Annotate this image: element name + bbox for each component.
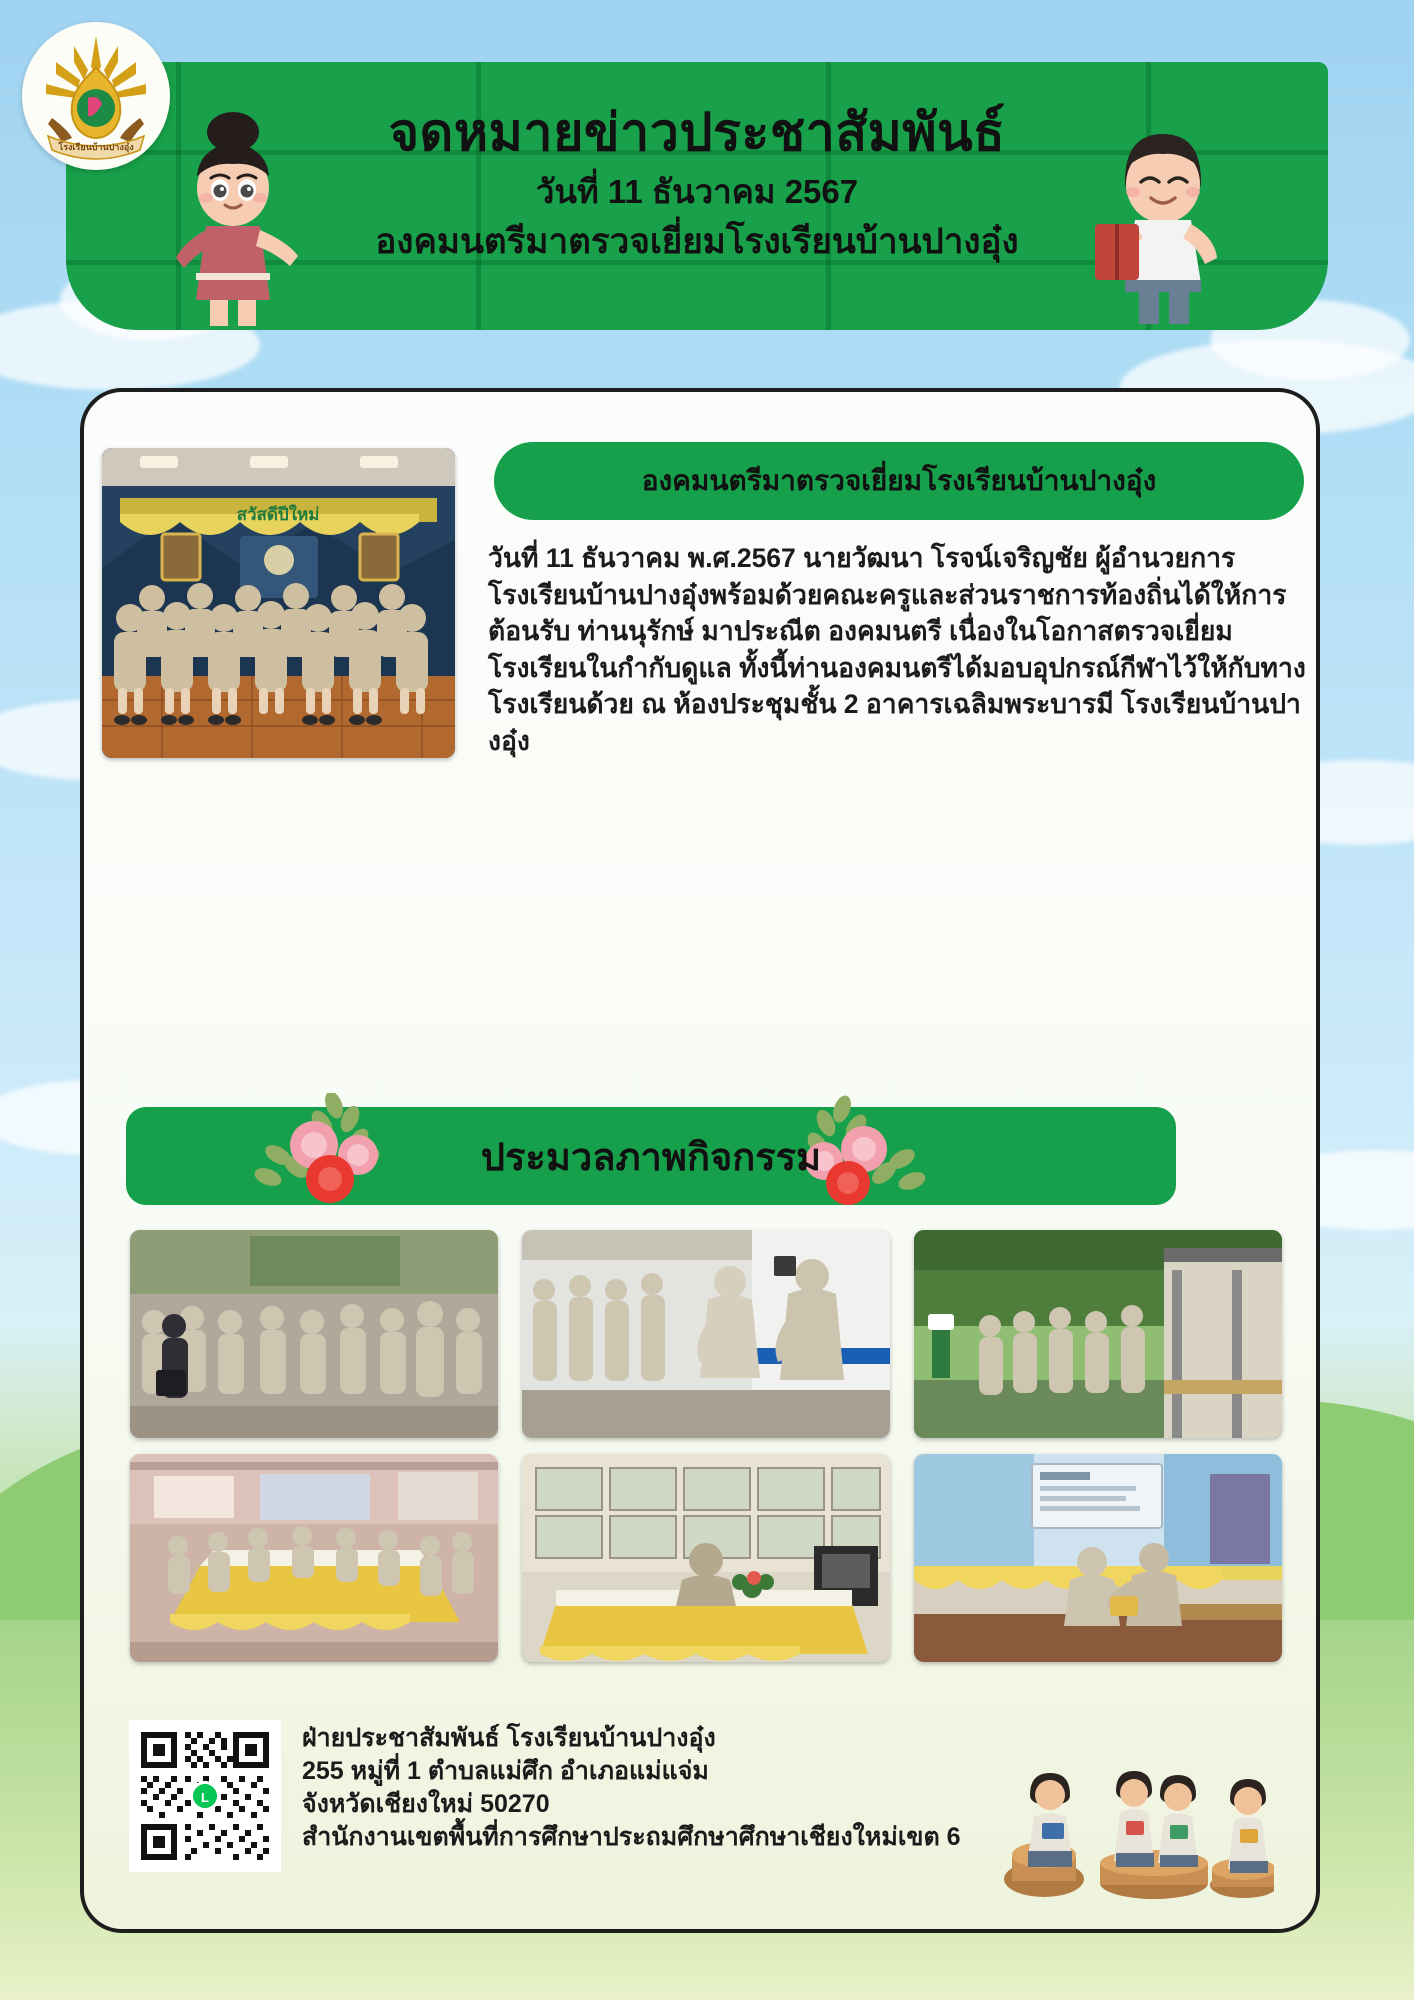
activity-photo: [522, 1454, 890, 1662]
activity-banner-title: ประมวลภาพกิจกรรม: [481, 1126, 821, 1187]
activity-photo-grid: [130, 1230, 1282, 1662]
article-title-pill: องคมนตรีมาตรวจเยี่ยมโรงเรียนบ้านปางอุ๋ง: [494, 442, 1304, 520]
activity-photo: [130, 1454, 498, 1662]
article-title: องคมนตรีมาตรวจเยี่ยมโรงเรียนบ้านปางอุ๋ง: [642, 459, 1157, 503]
hero-photo: สวัสดีปีใหม่: [102, 448, 455, 758]
seal-caption: โรงเรียนบ้านปางอุ๋ง: [57, 141, 133, 153]
footer-line: ฝ่ายประชาสัมพันธ์ โรงเรียนบ้านปางอุ๋ง: [302, 1722, 1062, 1755]
activity-photo: [914, 1454, 1282, 1662]
svg-text:สวัสดีปีใหม่: สวัสดีปีใหม่: [237, 504, 320, 524]
activity-photo: [130, 1230, 498, 1438]
footer-line: จังหวัดเชียงใหม่ 50270: [302, 1788, 1062, 1821]
newsletter-header: จดหมายข่าวประชาสัมพันธ์ วันที่ 11 ธันวาค…: [66, 62, 1328, 330]
activity-photo: [522, 1230, 890, 1438]
mascot-girl: [158, 110, 308, 330]
footer-line: สำนักงานเขตพื้นที่การศึกษาประถมศึกษาศึกษ…: [302, 1821, 1062, 1854]
activity-photo: [914, 1230, 1282, 1438]
flower-decoration-left: [238, 1093, 448, 1203]
article-body: วันที่ 11 ธันวาคม พ.ศ.2567 นายวัฒนา โรจน…: [488, 540, 1310, 759]
mascot-boy: [1081, 104, 1241, 330]
footer-line: 255 หมู่ที่ 1 ตำบลแม่ศึก อำเภอแม่แจ่ม: [302, 1755, 1062, 1788]
students-illustration: [1004, 1751, 1274, 1901]
footer-contact: ฝ่ายประชาสัมพันธ์ โรงเรียนบ้านปางอุ๋ง 25…: [302, 1722, 1062, 1854]
qr-code[interactable]: L: [129, 1720, 281, 1872]
newsletter-card: สวัสดีปีใหม่: [80, 388, 1320, 1933]
svg-text:L: L: [201, 1790, 209, 1805]
activity-banner: ประมวลภาพกิจกรรม: [126, 1107, 1176, 1205]
school-seal: โรงเรียนบ้านปางอุ๋ง: [22, 22, 170, 170]
